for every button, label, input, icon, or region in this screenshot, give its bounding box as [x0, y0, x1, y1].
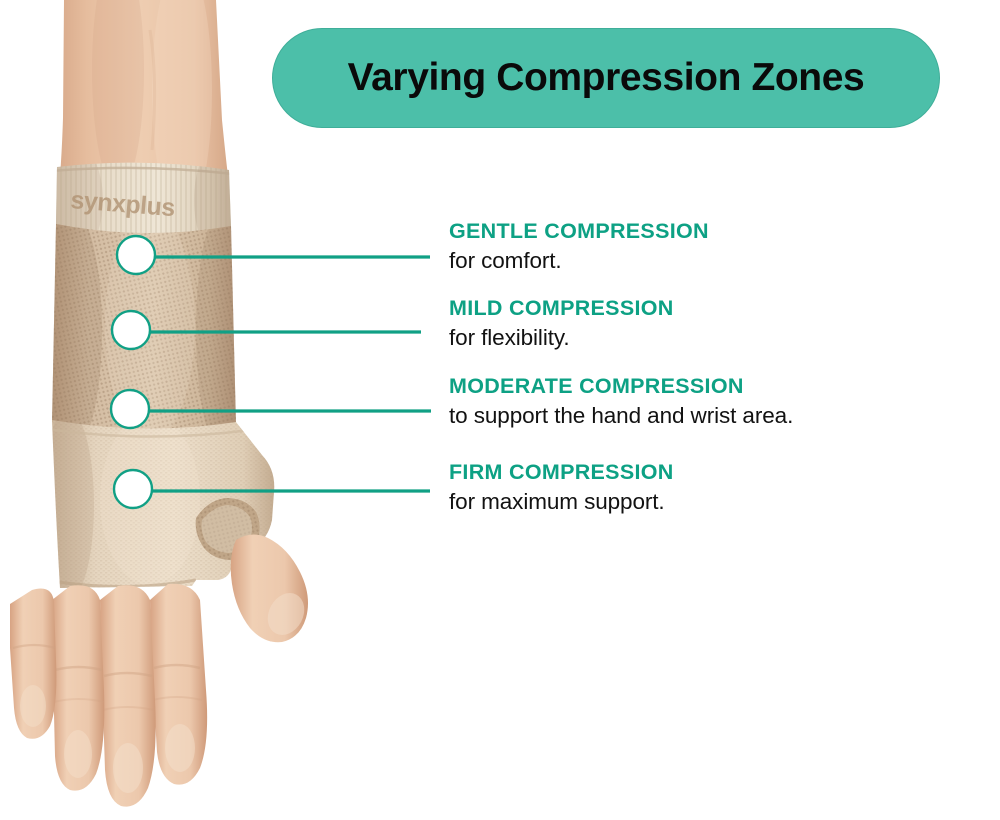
callout-gentle: GENTLE COMPRESSION for comfort.: [449, 219, 709, 274]
callout-firm: FIRM COMPRESSION for maximum support.: [449, 460, 674, 515]
callout-subtext-gentle: for comfort.: [449, 247, 709, 274]
callout-heading-gentle: GENTLE COMPRESSION: [449, 219, 709, 243]
thumb: [231, 534, 312, 642]
fingers: [10, 584, 207, 807]
callout-subtext-moderate: to support the hand and wrist area.: [449, 402, 793, 429]
title-banner: Varying Compression Zones: [272, 28, 940, 128]
page-title: Varying Compression Zones: [348, 56, 865, 100]
mesh-sleeve-section: [40, 210, 255, 450]
callout-heading-firm: FIRM COMPRESSION: [449, 460, 674, 484]
callout-mild: MILD COMPRESSION for flexibility.: [449, 296, 674, 351]
product-photo: synxplus: [0, 0, 330, 820]
callout-moderate: MODERATE COMPRESSION to support the hand…: [449, 374, 793, 429]
callout-heading-moderate: MODERATE COMPRESSION: [449, 374, 793, 398]
infographic-canvas: synxplus: [0, 0, 1000, 820]
callout-subtext-mild: for flexibility.: [449, 324, 674, 351]
callout-subtext-firm: for maximum support.: [449, 488, 674, 515]
product-illustration: synxplus: [0, 0, 330, 820]
callout-heading-mild: MILD COMPRESSION: [449, 296, 674, 320]
